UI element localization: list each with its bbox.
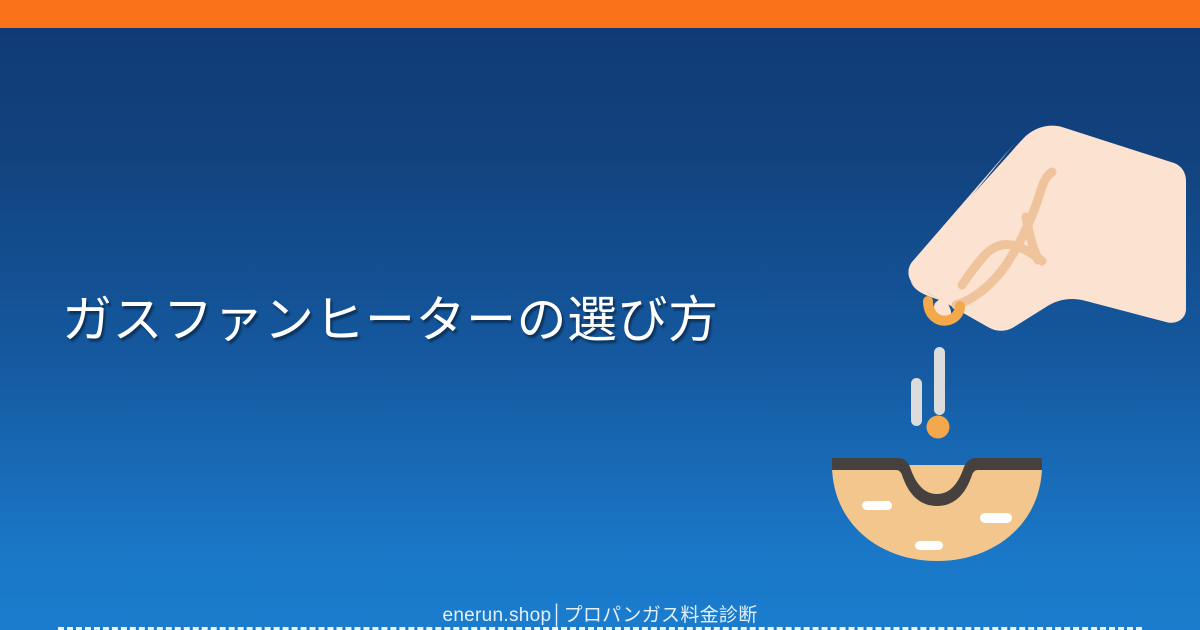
hand-icon xyxy=(909,126,1186,331)
coin-bar-short-icon xyxy=(911,378,922,426)
footer-credit: enerun.shop│プロパンガス料金診断 xyxy=(0,600,1200,627)
top-accent-bar xyxy=(0,0,1200,28)
illustration-hand-coin-bowl xyxy=(810,113,1190,583)
coin-round-icon xyxy=(927,416,950,439)
card-canvas: ガスファンヒーターの選び方 xyxy=(0,28,1200,630)
bowl-icon xyxy=(832,458,1042,561)
coin-bar-tall-icon xyxy=(934,347,945,415)
share-card: ガスファンヒーターの選び方 xyxy=(0,0,1200,630)
